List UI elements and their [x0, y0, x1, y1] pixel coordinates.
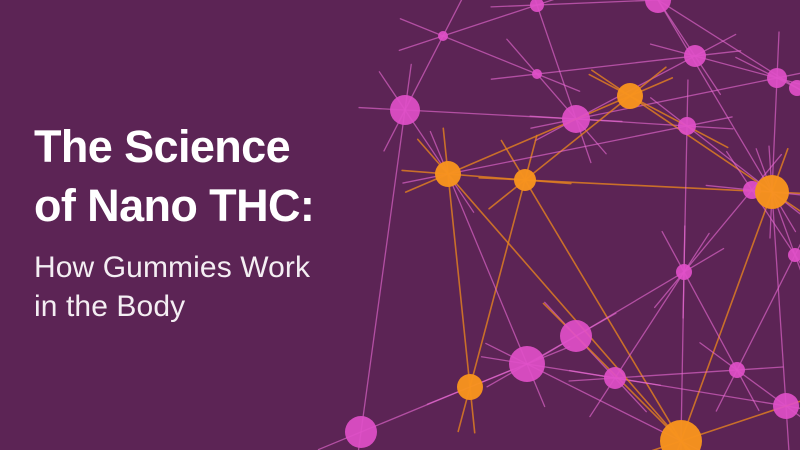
hero-banner: The Science of Nano THC: How Gummies Wor…	[0, 0, 800, 450]
network-node	[789, 80, 800, 96]
network-edge	[736, 57, 800, 108]
network-node	[767, 68, 787, 88]
network-node	[562, 105, 590, 133]
network-edge	[569, 367, 783, 381]
network-edge	[619, 0, 800, 113]
network-edge	[418, 139, 711, 450]
network-node	[509, 346, 545, 382]
network-edge	[655, 155, 782, 308]
network-node	[617, 83, 643, 109]
subtitle-line-1: How Gummies Work	[34, 248, 454, 287]
network-node	[530, 0, 544, 12]
page-title: The Science of Nano THC:	[34, 118, 454, 235]
network-edge	[680, 226, 685, 450]
network-edge	[662, 232, 759, 411]
network-edge	[633, 0, 721, 94]
network-node	[678, 117, 696, 135]
network-edge	[399, 0, 580, 50]
subtitle-line-2: in the Body	[34, 287, 454, 326]
network-node	[676, 264, 692, 280]
network-node	[604, 367, 626, 389]
network-node	[457, 374, 483, 400]
network-node	[560, 320, 592, 352]
network-node	[773, 393, 799, 419]
network-node	[755, 175, 789, 209]
network-node	[532, 69, 542, 79]
network-node	[645, 0, 671, 13]
network-node	[438, 31, 448, 41]
network-node	[684, 45, 706, 67]
network-node	[729, 362, 745, 378]
page-subtitle: How Gummies Work in the Body	[34, 248, 454, 326]
network-node	[514, 169, 536, 191]
network-edge	[727, 152, 800, 294]
network-edge	[491, 0, 704, 7]
network-edge	[400, 19, 579, 91]
headline-block: The Science of Nano THC: How Gummies Wor…	[34, 118, 454, 326]
network-node	[788, 248, 800, 262]
network-node	[345, 416, 377, 448]
title-line-2: of Nano THC:	[34, 177, 454, 236]
network-edge	[507, 39, 606, 154]
title-line-1: The Science	[34, 118, 454, 177]
